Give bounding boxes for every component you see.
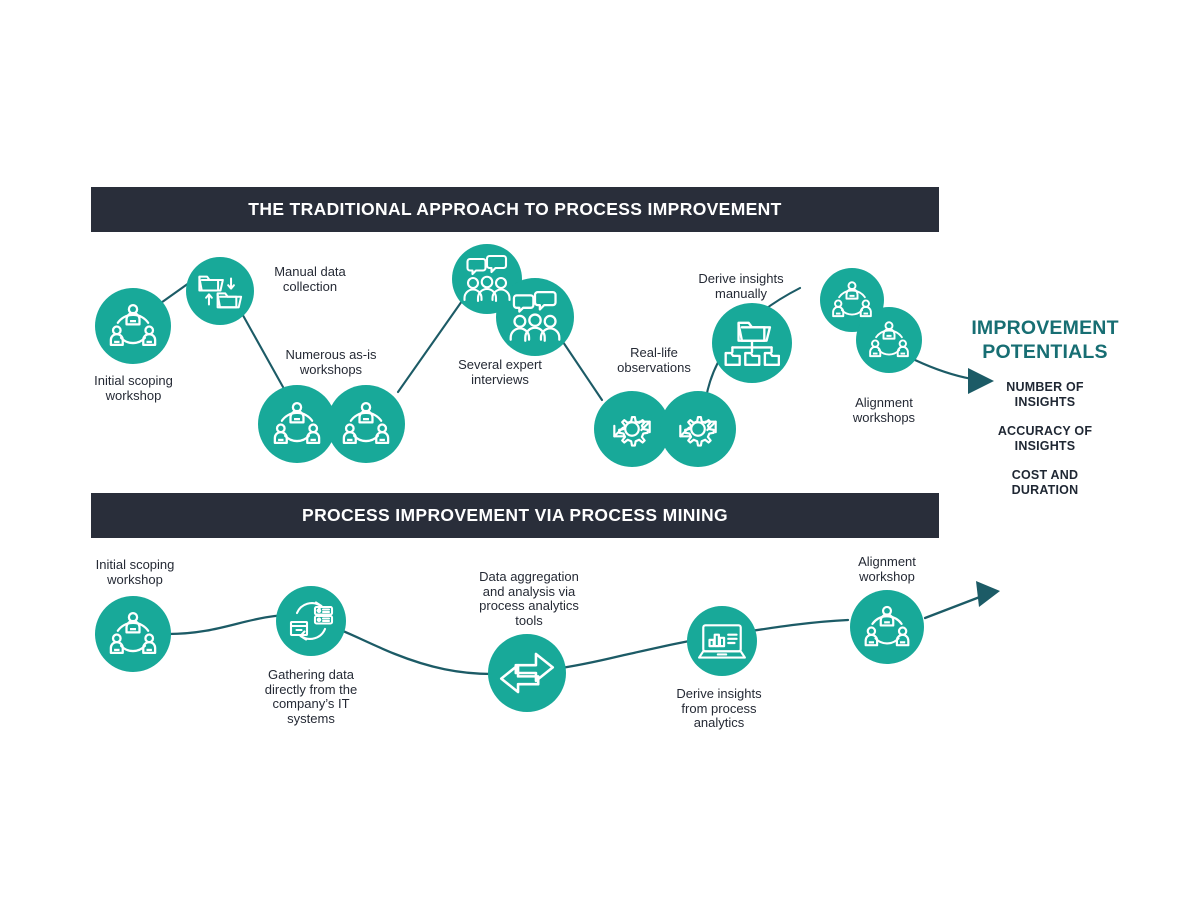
caption-several-expert-interviews: Several expert interviews bbox=[440, 358, 560, 387]
outcome-item-number-of-insights: NUMBER OF INSIGHTS bbox=[952, 380, 1138, 409]
section-title-traditional: THE TRADITIONAL APPROACH TO PROCESS IMPR… bbox=[248, 199, 781, 220]
node-initial-scoping-workshop[interactable] bbox=[95, 288, 171, 364]
row-2-arrowhead bbox=[976, 581, 1000, 607]
node-alignment-workshop-mining[interactable] bbox=[850, 590, 924, 664]
caption-initial-scoping-workshop: Initial scoping workshop bbox=[71, 374, 196, 403]
node-gathering-data-from-it-systems[interactable] bbox=[276, 586, 346, 656]
caption-initial-scoping-workshop-mining: Initial scoping workshop bbox=[76, 558, 194, 587]
caption-alignment-workshops: Alignment workshops bbox=[832, 396, 936, 425]
caption-manual-data-collection: Manual data collection bbox=[258, 265, 362, 294]
node-real-life-observations[interactable] bbox=[594, 391, 736, 467]
section-header-traditional: THE TRADITIONAL APPROACH TO PROCESS IMPR… bbox=[91, 187, 939, 232]
caption-gathering-data-from-it-systems: Gathering data directly from the company… bbox=[248, 668, 374, 726]
node-derive-insights-from-analytics[interactable] bbox=[687, 606, 757, 676]
section-header-process-mining: PROCESS IMPROVEMENT VIA PROCESS MINING bbox=[91, 493, 939, 538]
improvement-potentials-title: IMPROVEMENT POTENTIALS bbox=[952, 316, 1138, 364]
node-initial-scoping-workshop-mining[interactable] bbox=[95, 596, 171, 672]
node-several-expert-interviews[interactable] bbox=[452, 244, 574, 356]
outcome-item-cost-and-duration: COST AND DURATION bbox=[952, 468, 1138, 497]
node-numerous-as-is-workshops[interactable] bbox=[258, 385, 405, 463]
caption-data-aggregation-and-analysis: Data aggregation and analysis via proces… bbox=[463, 570, 595, 628]
diagram-canvas: THE TRADITIONAL APPROACH TO PROCESS IMPR… bbox=[0, 0, 1200, 900]
node-manual-data-collection[interactable] bbox=[186, 257, 254, 325]
caption-derive-insights-manually: Derive insights manually bbox=[686, 272, 796, 301]
node-derive-insights-manually[interactable] bbox=[712, 303, 792, 383]
node-alignment-workshops[interactable] bbox=[820, 268, 922, 373]
outcome-item-accuracy-of-insights: ACCURACY OF INSIGHTS bbox=[952, 424, 1138, 453]
caption-numerous-as-is-workshops: Numerous as-is workshops bbox=[272, 348, 390, 377]
node-data-aggregation-and-analysis[interactable] bbox=[488, 634, 566, 712]
caption-real-life-observations: Real-life observations bbox=[600, 346, 708, 375]
section-title-process-mining: PROCESS IMPROVEMENT VIA PROCESS MINING bbox=[302, 505, 728, 526]
caption-derive-insights-from-analytics: Derive insights from process analytics bbox=[660, 687, 778, 731]
caption-alignment-workshop-mining: Alignment workshop bbox=[833, 555, 941, 584]
